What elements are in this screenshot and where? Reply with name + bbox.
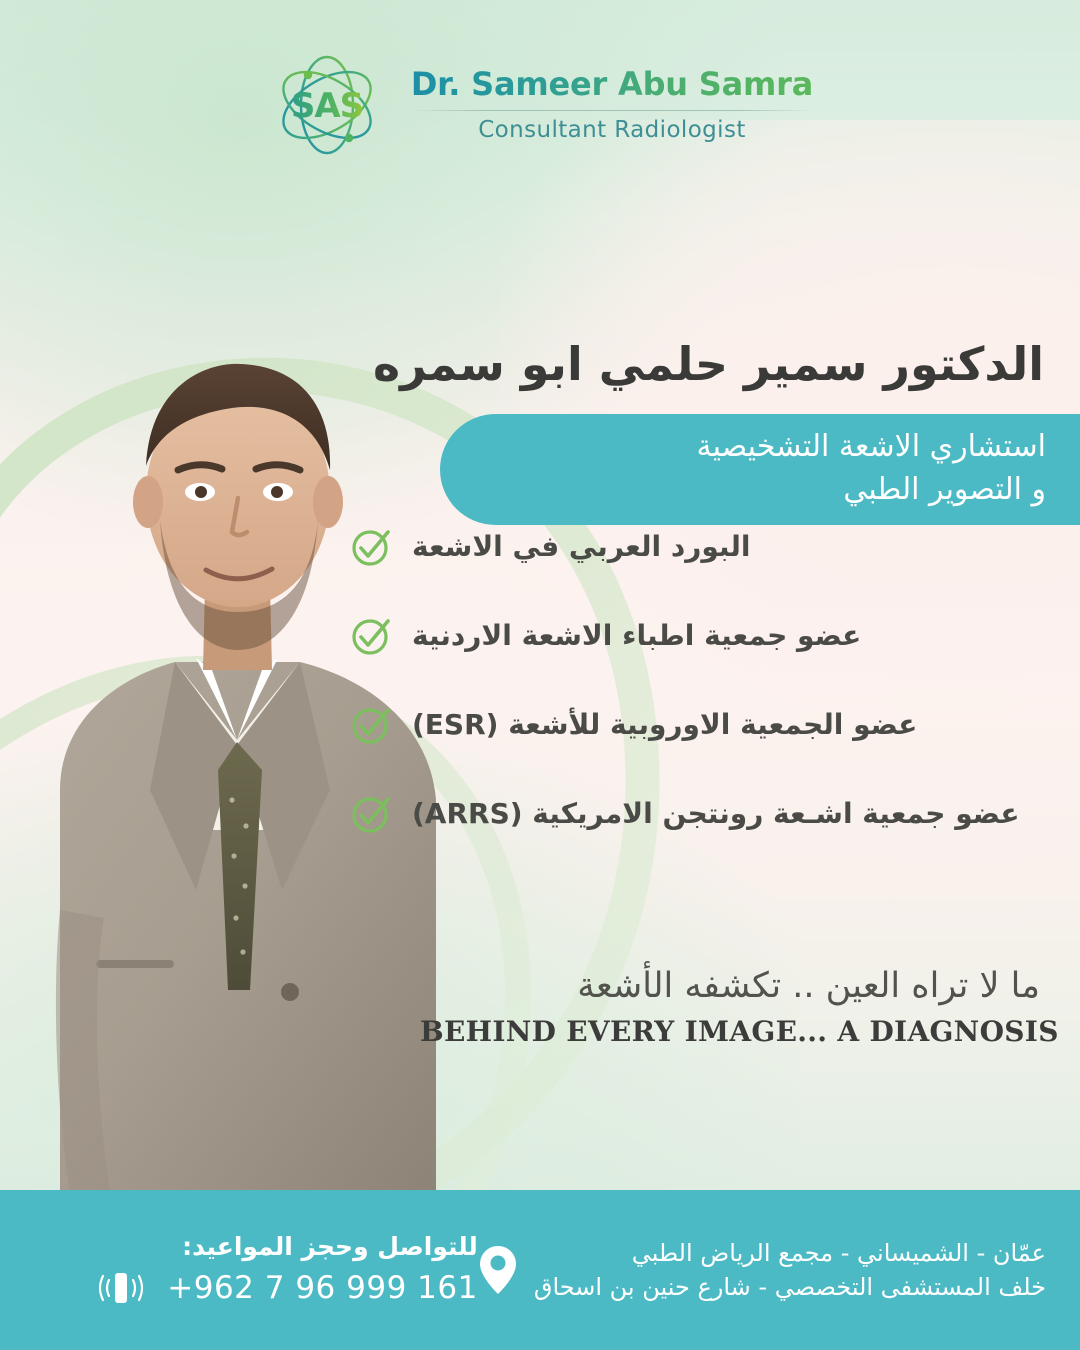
tagline-arabic: ما لا تراه العين .. تكشفه الأشعة [420,965,1040,1009]
contact-row: +962 7 96 999 161 [93,1268,478,1308]
check-circle-icon [350,792,394,836]
brand-divider [411,110,813,111]
tagline-block: ما لا تراه العين .. تكشفه الأشعة BEHIND … [420,965,1040,1048]
footer-address: عمّان - الشميساني - مجمع الرياض الطبي خل… [478,1236,1080,1304]
credential-item: عضو الجمعية الاوروبية للأشعة (ESR) [350,703,1050,747]
check-circle-icon [350,525,394,569]
svg-text:SAS: SAS [291,86,363,126]
header: SAS Dr. Sameer Abu Samra Consultant Radi… [0,0,1080,210]
specialty-line-2: و التصوير الطبي [510,469,1046,512]
location-pin-icon [478,1244,518,1296]
credential-label: عضو الجمعية الاوروبية للأشعة (ESR) [412,708,917,742]
poster-canvas: SAS Dr. Sameer Abu Samra Consultant Radi… [0,0,1080,1350]
specialty-banner: استشاري الاشعة التشخيصية و التصوير الطبي [440,414,1080,525]
specialty-line-1: استشاري الاشعة التشخيصية [510,426,1046,469]
address-line-1: عمّان - الشميساني - مجمع الرياض الطبي [534,1236,1046,1270]
doctor-name: الدكتور سمير حلمي ابو سمره [373,336,1044,394]
tagline-english: BEHIND EVERY IMAGE... A DIAGNOSIS [420,1015,1040,1048]
address-lines: عمّان - الشميساني - مجمع الرياض الطبي خل… [534,1236,1046,1304]
credential-label: عضو جمعية اشـعة رونتجن الامريكية (ARRS) [412,797,1019,831]
contact-label: للتواصل وحجز المواعيد: [182,1232,478,1262]
credential-label: البورد العربي في الاشعة [412,530,750,564]
credential-item: عضو جمعية اشـعة رونتجن الامريكية (ARRS) [350,792,1050,836]
contact-phone-number[interactable]: +962 7 96 999 161 [167,1270,478,1306]
brand-lockup: Dr. Sameer Abu Samra Consultant Radiolog… [411,67,813,142]
credential-label: عضو جمعية اطباء الاشعة الاردنية [412,619,861,653]
credential-item: عضو جمعية اطباء الاشعة الاردنية [350,614,1050,658]
credentials-list: البورد العربي في الاشعة عضو جمعية اطباء … [350,525,1050,836]
credential-item: البورد العربي في الاشعة [350,525,1050,569]
check-circle-icon [350,703,394,747]
brand-name: Dr. Sameer Abu Samra [411,67,813,102]
footer-bar: عمّان - الشميساني - مجمع الرياض الطبي خل… [0,1190,1080,1350]
footer-contact: للتواصل وحجز المواعيد: +962 7 96 999 161 [0,1232,478,1308]
check-circle-icon [350,614,394,658]
address-line-2: خلف المستشفى التخصصي - شارع حنين بن اسحا… [534,1270,1046,1304]
brand-subtitle: Consultant Radiologist [478,117,746,143]
atom-orbital-icon: SAS [267,53,387,158]
vibrating-phone-icon [93,1268,147,1308]
